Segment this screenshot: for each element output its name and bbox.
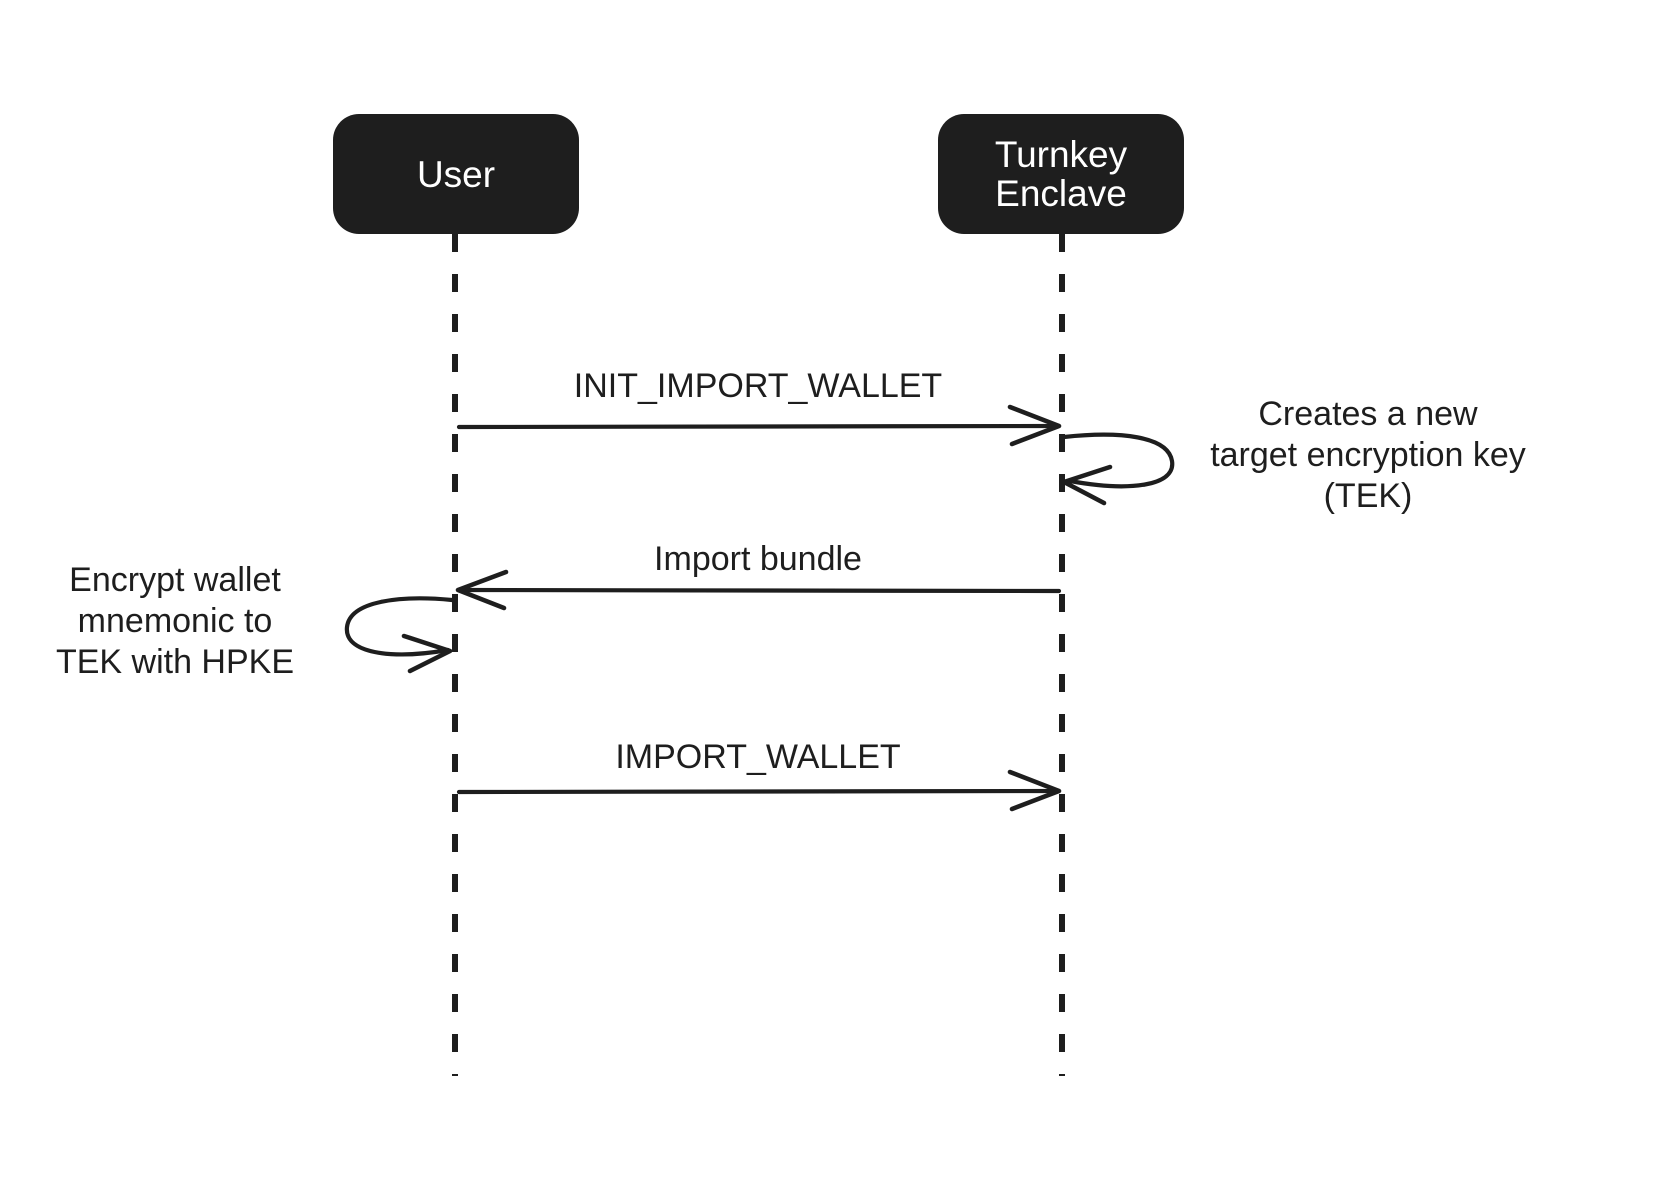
message-init-import-wallet-line xyxy=(459,426,1057,427)
participant-user-label: User xyxy=(417,154,495,195)
self-loop-user-encrypt-mnemonic[interactable]: Encrypt wallet mnemonic to TEK with HPKE xyxy=(56,561,452,681)
message-init-import-wallet[interactable]: INIT_IMPORT_WALLET xyxy=(459,367,1059,444)
self-loop-enclave-note-line-1: Creates a new xyxy=(1258,395,1478,433)
self-loop-enclave-note-line-3: (TEK) xyxy=(1324,477,1413,515)
message-import-wallet-line xyxy=(459,791,1057,792)
sequence-diagram-canvas: User Turnkey Enclave INIT_IMPORT_WALLET … xyxy=(0,0,1670,1204)
self-loop-user-note-line-3: TEK with HPKE xyxy=(56,643,294,681)
self-loop-enclave-create-tek[interactable]: Creates a new target encryption key (TEK… xyxy=(1064,395,1526,515)
self-loop-enclave-note-line-2: target encryption key xyxy=(1210,436,1526,474)
message-import-bundle-line xyxy=(460,590,1059,591)
diagram-svg: User Turnkey Enclave INIT_IMPORT_WALLET … xyxy=(0,0,1670,1204)
message-import-bundle-label: Import bundle xyxy=(654,540,862,578)
message-import-wallet-label: IMPORT_WALLET xyxy=(615,738,900,776)
participant-turnkey-enclave-label-line-1: Turnkey xyxy=(995,134,1128,175)
participant-turnkey-enclave[interactable]: Turnkey Enclave xyxy=(938,114,1184,234)
message-init-import-wallet-label: INIT_IMPORT_WALLET xyxy=(574,367,942,405)
lifelines-group xyxy=(455,234,1062,1076)
message-import-bundle[interactable]: Import bundle xyxy=(458,540,1059,608)
participant-user[interactable]: User xyxy=(333,114,579,234)
message-import-wallet[interactable]: IMPORT_WALLET xyxy=(459,738,1059,809)
self-loop-user-note-line-1: Encrypt wallet xyxy=(69,561,281,599)
participant-turnkey-enclave-label-line-2: Enclave xyxy=(995,173,1127,214)
self-loop-user-note-line-2: mnemonic to xyxy=(78,602,273,640)
